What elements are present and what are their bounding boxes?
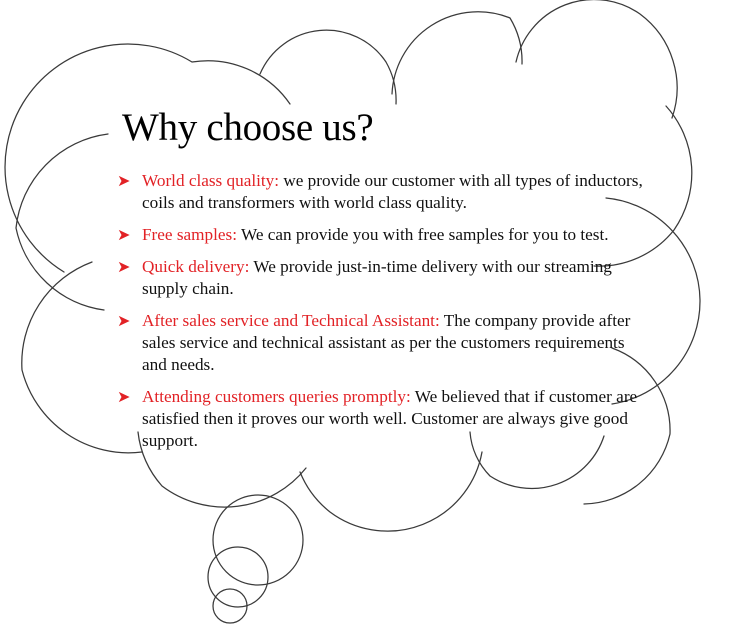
arrow-bullet-icon: ➤ [117, 256, 130, 278]
list-item: ➤ After sales service and Technical Assi… [116, 310, 646, 376]
arrow-bullet-icon: ➤ [117, 170, 130, 192]
benefits-list: ➤ World class quality: we provide our cu… [116, 170, 646, 452]
list-item-label: Attending customers queries promptly: [142, 387, 411, 406]
list-item: ➤ Quick delivery: We provide just-in-tim… [116, 256, 646, 300]
arrow-bullet-icon: ➤ [117, 224, 130, 246]
list-item: ➤ Free samples: We can provide you with … [116, 224, 646, 246]
arrow-bullet-icon: ➤ [117, 386, 130, 408]
arrow-bullet-icon: ➤ [117, 310, 130, 332]
slide-content: Why choose us? ➤ World class quality: we… [0, 0, 756, 635]
page-title: Why choose us? [122, 108, 373, 149]
list-item-label: World class quality: [142, 171, 279, 190]
list-item-label: After sales service and Technical Assist… [142, 311, 440, 330]
list-item-label: Free samples: [142, 225, 237, 244]
list-item: ➤ World class quality: we provide our cu… [116, 170, 646, 214]
slide-canvas: Why choose us? ➤ World class quality: we… [0, 0, 756, 635]
list-item-text: We can provide you with free samples for… [237, 225, 609, 244]
list-item: ➤ Attending customers queries promptly: … [116, 386, 646, 452]
list-item-label: Quick delivery: [142, 257, 249, 276]
